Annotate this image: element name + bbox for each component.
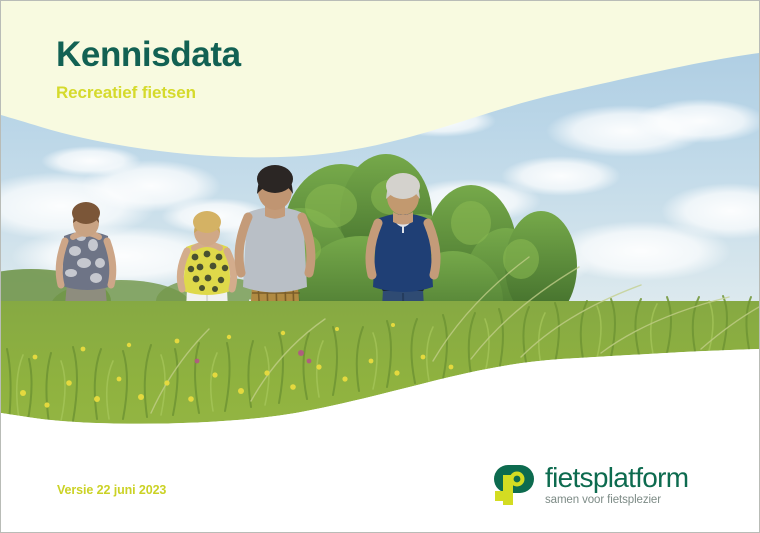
logo-tagline: samen voor fietsplezier [545, 495, 688, 507]
document-cover-page: Kennisdata Recreatief fietsen Versie 22 … [0, 0, 760, 533]
logo-text-block: fietsplatform samen voor fietsplezier [545, 464, 688, 507]
page-title: Kennisdata [56, 37, 576, 74]
fietsplatform-logo[interactable]: fietsplatform samen voor fietsplezier [493, 459, 703, 511]
fietsplatform-p-mark [493, 461, 539, 509]
title-block: Kennisdata Recreatief fietsen [56, 37, 576, 102]
page-subtitle: Recreatief fietsen [56, 84, 576, 103]
version-label: Versie 22 juni 2023 [57, 483, 166, 497]
logo-wordmark: fietsplatform [545, 464, 688, 492]
